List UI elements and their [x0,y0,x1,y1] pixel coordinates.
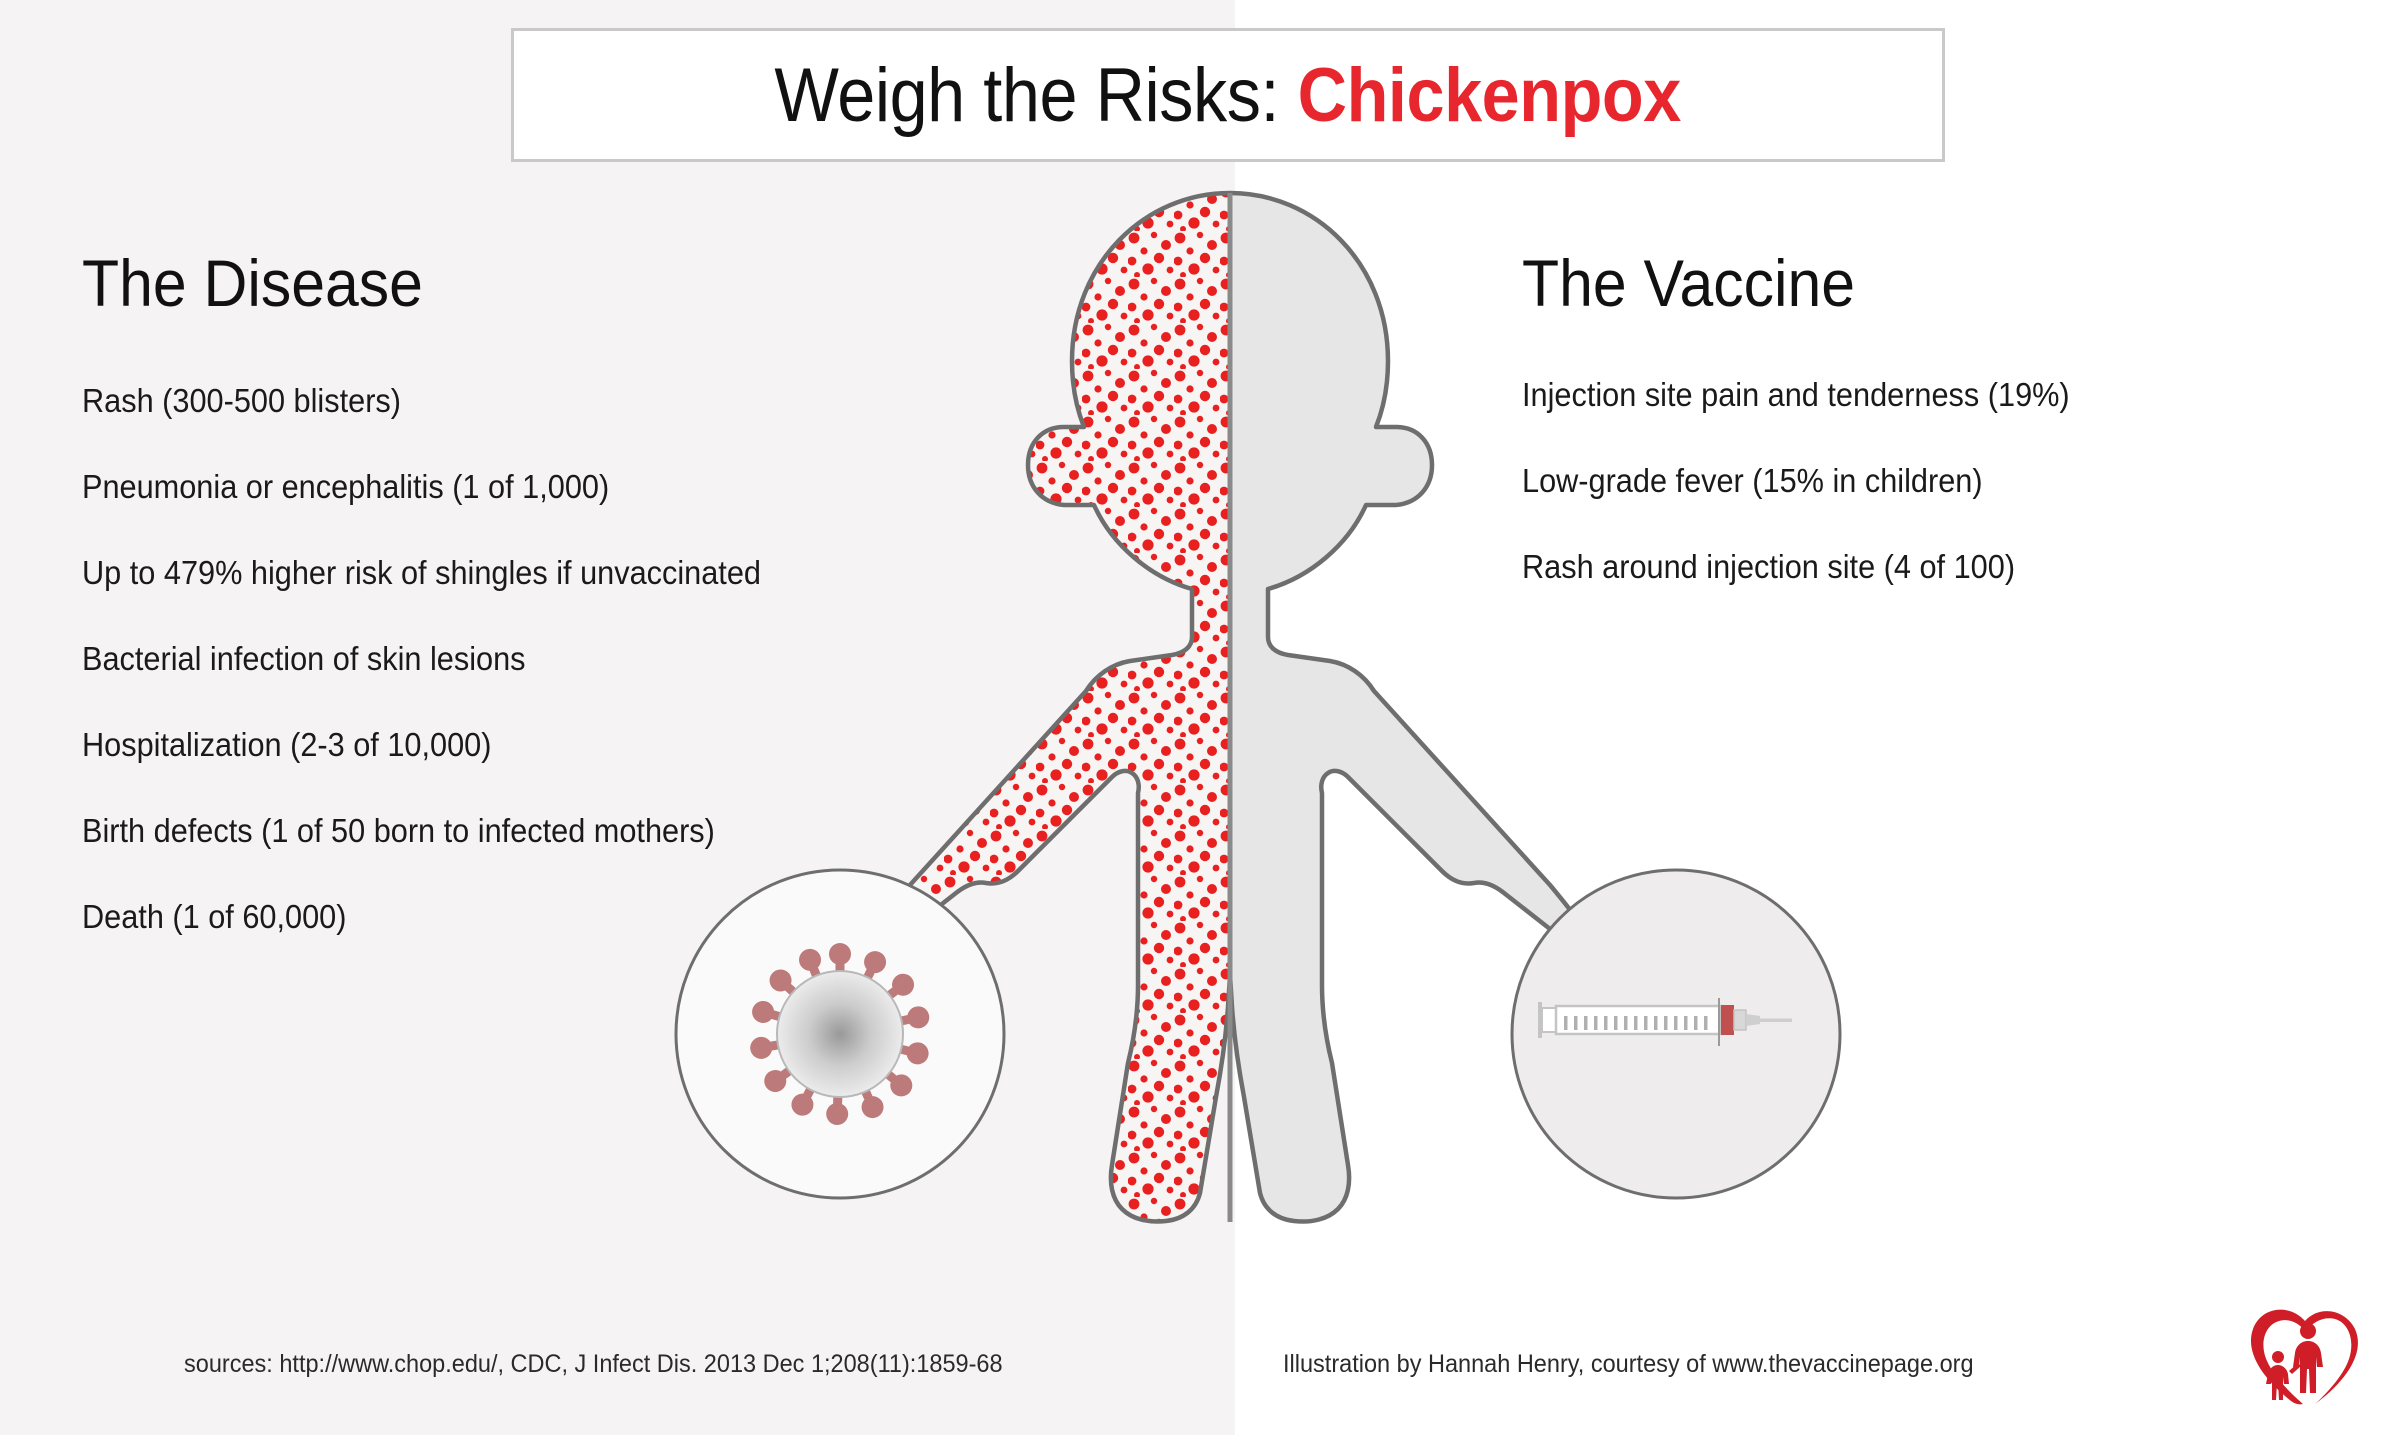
disease-risk-list: Rash (300-500 blisters) Pneumonia or enc… [82,384,1092,933]
virus-particle-icon [672,866,1008,1202]
list-item: Injection site pain and tenderness (19%) [1522,378,2285,411]
list-item: Hospitalization (2-3 of 10,000) [82,728,1021,761]
illustration-credit-text: Illustration by Hannah Henry, courtesy o… [1283,1350,1974,1379]
vaccine-sideeffect-list: Injection site pain and tenderness (19%)… [1522,378,2342,583]
list-item: Birth defects (1 of 50 born to infected … [82,814,1021,847]
page-title: Weigh the Risks: Chickenpox [775,52,1681,139]
vaccine-heading: The Vaccine [1522,250,2276,316]
list-item: Rash (300-500 blisters) [82,384,1021,417]
page-title-accent: Chickenpox [1298,53,1681,138]
infographic-poster: Weigh the Risks: Chickenpox [0,0,2400,1435]
heart-family-logo [2245,1305,2365,1415]
title-banner: Weigh the Risks: Chickenpox [511,28,1945,162]
vaccine-column: The Vaccine Injection site pain and tend… [1522,250,2342,636]
syringe-icon [1508,866,1844,1202]
sources-text: sources: http://www.chop.edu/, CDC, J In… [184,1350,1003,1379]
disease-heading: The Disease [82,250,1011,316]
list-item: Rash around injection site (4 of 100) [1522,550,2285,583]
list-item: Low-grade fever (15% in children) [1522,464,2285,497]
list-item: Pneumonia or encephalitis (1 of 1,000) [82,470,1021,503]
page-title-main: Weigh the Risks: [775,53,1280,138]
list-item: Up to 479% higher risk of shingles if un… [82,556,1021,589]
list-item: Bacterial infection of skin lesions [82,642,1021,675]
